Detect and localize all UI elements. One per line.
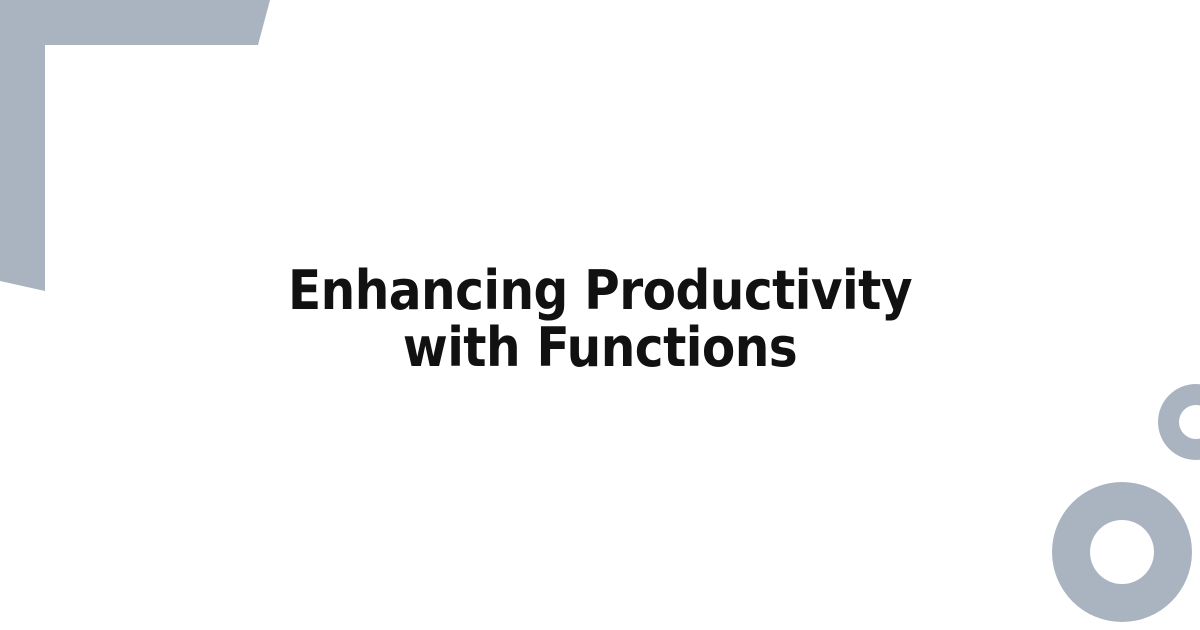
top-left-corner-bracket-shape <box>0 0 270 291</box>
page-title: Enhancing Productivity with Functions <box>285 262 915 376</box>
small-ring-shape <box>1158 384 1200 460</box>
large-ring-shape <box>1052 482 1192 622</box>
title-block: Enhancing Productivity with Functions <box>0 262 1200 376</box>
share-card: Enhancing Productivity with Functions <box>0 0 1200 630</box>
